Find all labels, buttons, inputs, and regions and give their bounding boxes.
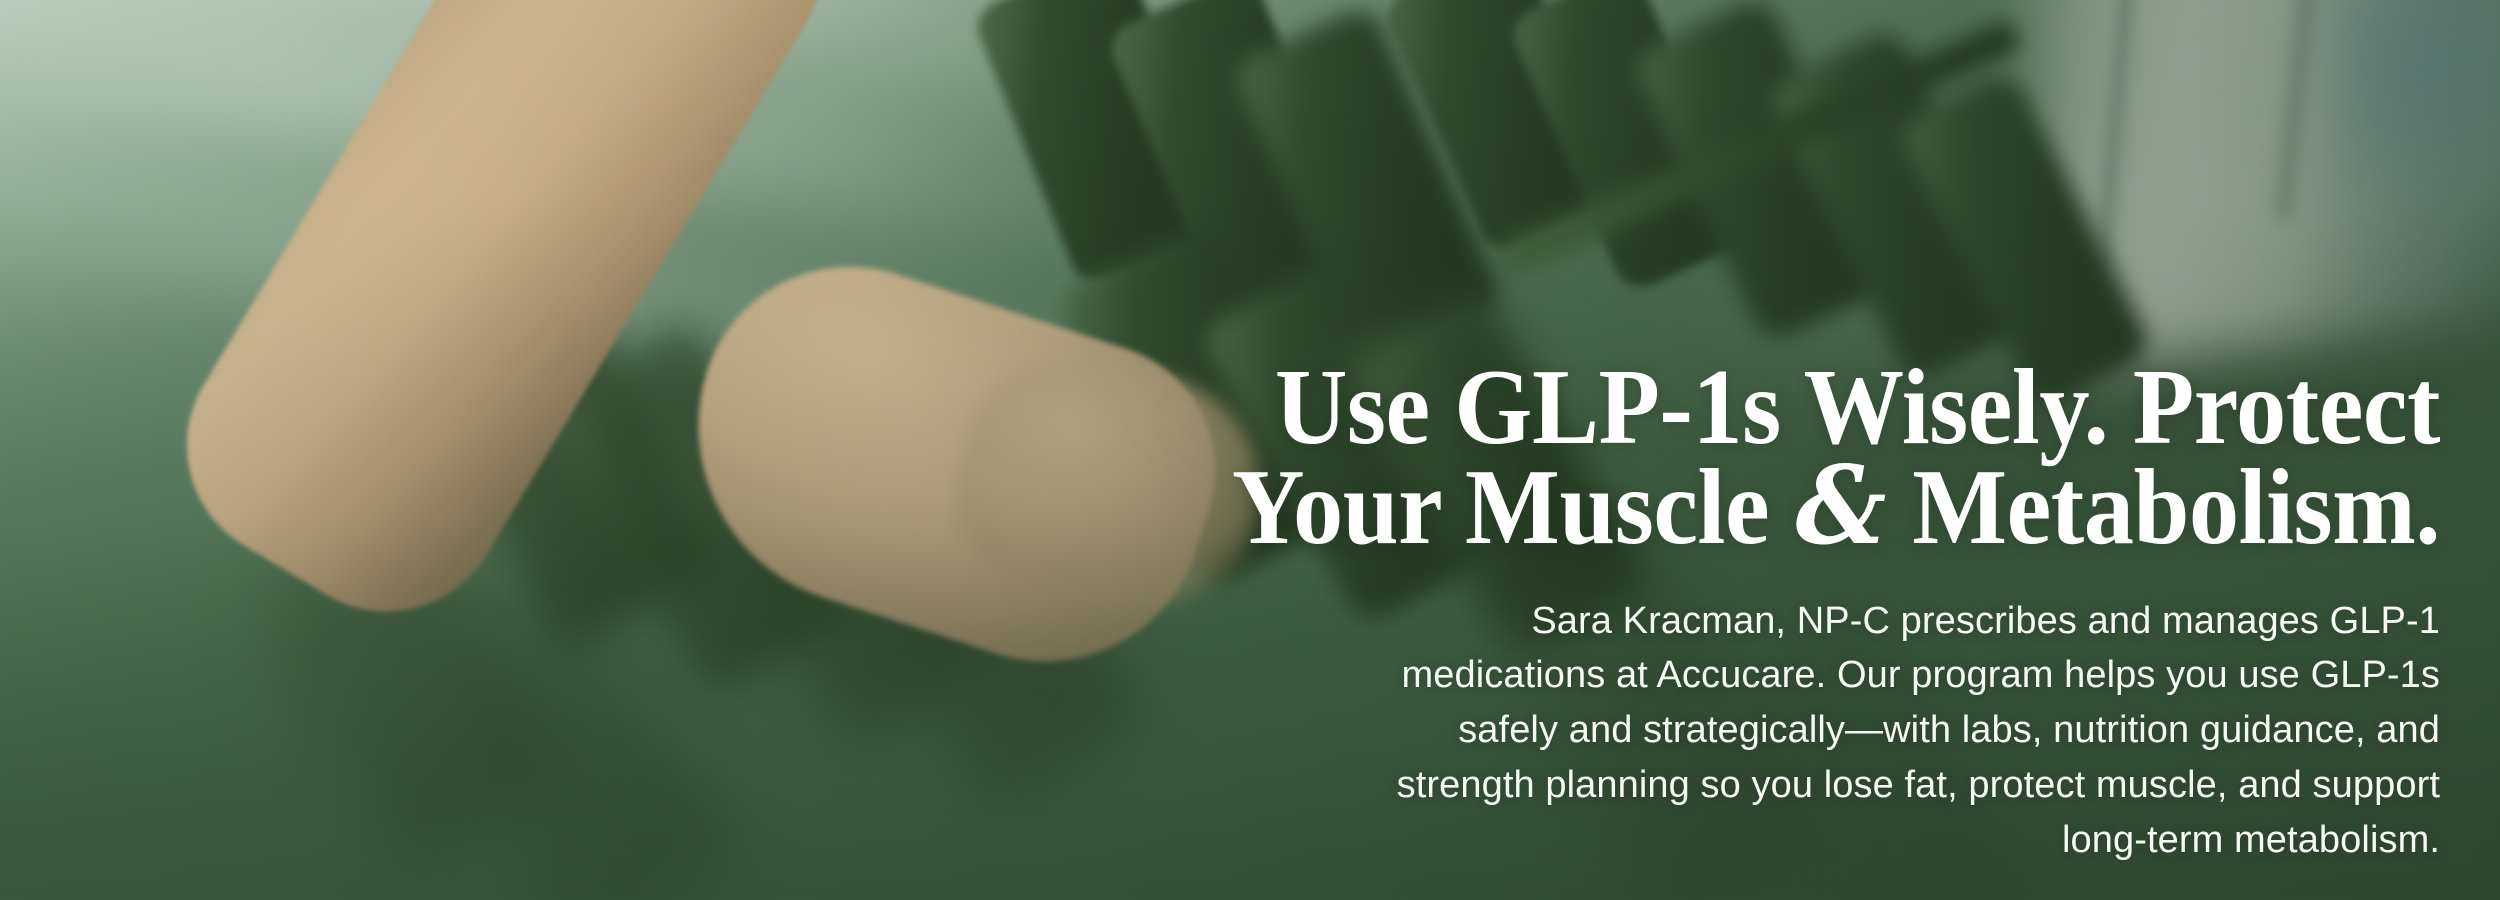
headline-line-2: Your Muscle & Metabolism. bbox=[952, 457, 2440, 557]
hero-content: Use GLP-1s Wisely. Protect Your Muscle &… bbox=[0, 0, 2500, 900]
hero-headline: Use GLP-1s Wisely. Protect Your Muscle &… bbox=[952, 358, 2440, 558]
headline-line-2-before-ampersand: Your Muscle bbox=[1232, 448, 1794, 567]
ampersand-glyph: & bbox=[1794, 443, 1888, 569]
headline-line-2-after-ampersand: Metabolism. bbox=[1888, 448, 2440, 567]
headline-line-1: Use GLP-1s Wisely. Protect bbox=[952, 358, 2440, 457]
hero-subcopy: Sara Kracman, NP-C prescribes and manage… bbox=[1380, 594, 2440, 868]
hero-banner: Use GLP-1s Wisely. Protect Your Muscle &… bbox=[0, 0, 2500, 900]
